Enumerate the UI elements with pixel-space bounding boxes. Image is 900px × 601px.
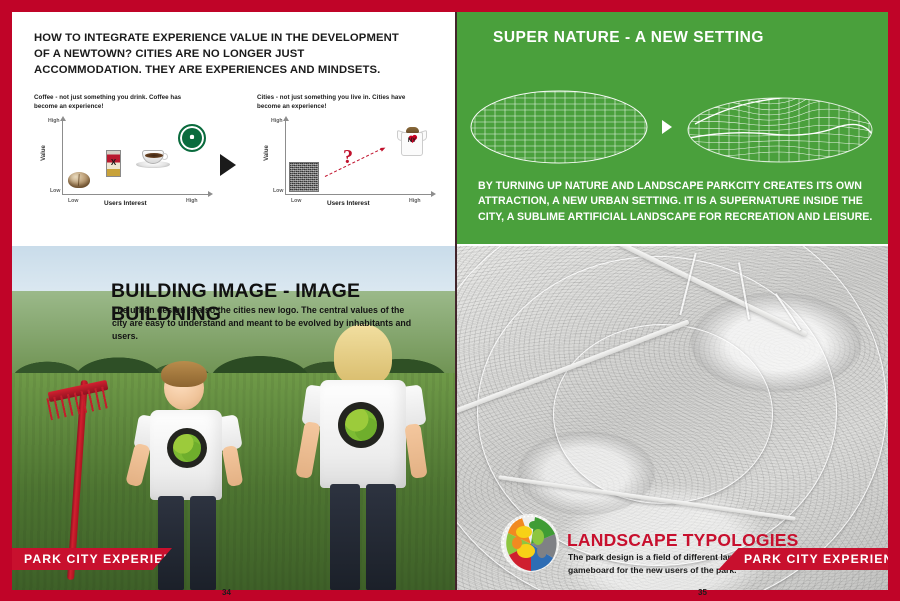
y-axis-arrow-icon: [283, 116, 289, 121]
super-nature-body: BY TURNING UP NATURE AND LANDSCAPE PARKC…: [478, 179, 878, 225]
photo-woman: [300, 330, 428, 590]
flat-wireframe-mesh-icon: [469, 84, 649, 170]
footer-banner-left: PARK CITY EXPERIENCE: [12, 548, 172, 570]
chart-cities-caption: Cities - not just something you live in.…: [257, 94, 417, 112]
x-axis: [285, 194, 433, 195]
x-tick-high: High: [186, 198, 198, 204]
x-axis-arrow-icon: [208, 191, 213, 197]
super-nature-title: SUPER NATURE - A NEW SETTING: [493, 29, 764, 47]
y-axis-label: Value: [41, 145, 47, 161]
y-tick-high: High: [48, 118, 60, 124]
panel-experience-value: HOW TO INTEGRATE EXPERIENCE VALUE IN THE…: [12, 12, 455, 244]
y-tick-high: High: [271, 118, 283, 124]
trend-arrow-icon: [325, 148, 383, 177]
x-axis-arrow-icon: [431, 191, 436, 197]
play-arrow-icon: [662, 120, 672, 134]
page-left: HOW TO INTEGRATE EXPERIENCE VALUE IN THE…: [12, 12, 455, 590]
chart-coffee-plot-area: High Low Value Low High Users Interest: [48, 120, 210, 200]
page-number-left: 34: [222, 588, 231, 597]
y-tick-low: Low: [273, 188, 283, 194]
data-point-i-love-ny-tshirt: NY: [397, 128, 427, 156]
panel-super-nature: SUPER NATURE - A NEW SETTING: [457, 12, 888, 244]
y-tick-low: Low: [50, 188, 60, 194]
tshirt-logo-woman: [338, 402, 384, 448]
play-arrow-icon: [220, 154, 236, 176]
chart-coffee-experience: Coffee - not just something you drink. C…: [34, 94, 214, 214]
tshirt-logo-boy: [167, 428, 207, 468]
landscape-typologies-logo: [501, 514, 559, 572]
x-tick-low: Low: [291, 198, 301, 204]
chart-cities-plot-area: High Low Value Low High Users Interest ?…: [271, 120, 433, 200]
data-point-city-texture: [289, 162, 319, 192]
footer-banner-right: PARK CITY EXPERIENCE: [718, 548, 888, 570]
chart-coffee-caption: Coffee - not just something you drink. C…: [34, 94, 194, 112]
chart-cities-experience: Cities - not just something you live in.…: [257, 94, 437, 214]
page-right: SUPER NATURE - A NEW SETTING: [457, 12, 888, 590]
x-axis-label: Users Interest: [104, 200, 147, 207]
model-ring-inner: [553, 324, 773, 504]
x-axis-label: Users Interest: [327, 200, 370, 207]
x-tick-high: High: [409, 198, 421, 204]
x-axis: [62, 194, 210, 195]
data-point-coffee-bean: [68, 172, 90, 188]
building-image-body: The urban design is also the cities new …: [112, 304, 417, 343]
data-point-starbucks-logo: [178, 124, 206, 152]
spread-gutter: [455, 12, 457, 590]
y-axis-label: Value: [264, 145, 270, 161]
magazine-spread: HOW TO INTEGRATE EXPERIENCE VALUE IN THE…: [0, 0, 900, 601]
panel-landscape-typologies: LANDSCAPE TYPOLOGIES The park design is …: [457, 246, 888, 590]
x-tick-low: Low: [68, 198, 78, 204]
y-axis: [62, 120, 63, 194]
terrain-wireframe-mesh-icon: [685, 84, 875, 170]
question-mark-annotation: ?: [343, 146, 353, 169]
landscape-typologies-title: LANDSCAPE TYPOLOGIES: [567, 530, 799, 551]
experience-value-headline: HOW TO INTEGRATE EXPERIENCE VALUE IN THE…: [34, 30, 414, 78]
y-axis: [285, 120, 286, 194]
data-point-coffee-package: [106, 150, 121, 177]
page-number-right: 35: [698, 588, 707, 597]
data-point-coffee-cup: [136, 144, 170, 168]
y-axis-arrow-icon: [60, 116, 66, 121]
